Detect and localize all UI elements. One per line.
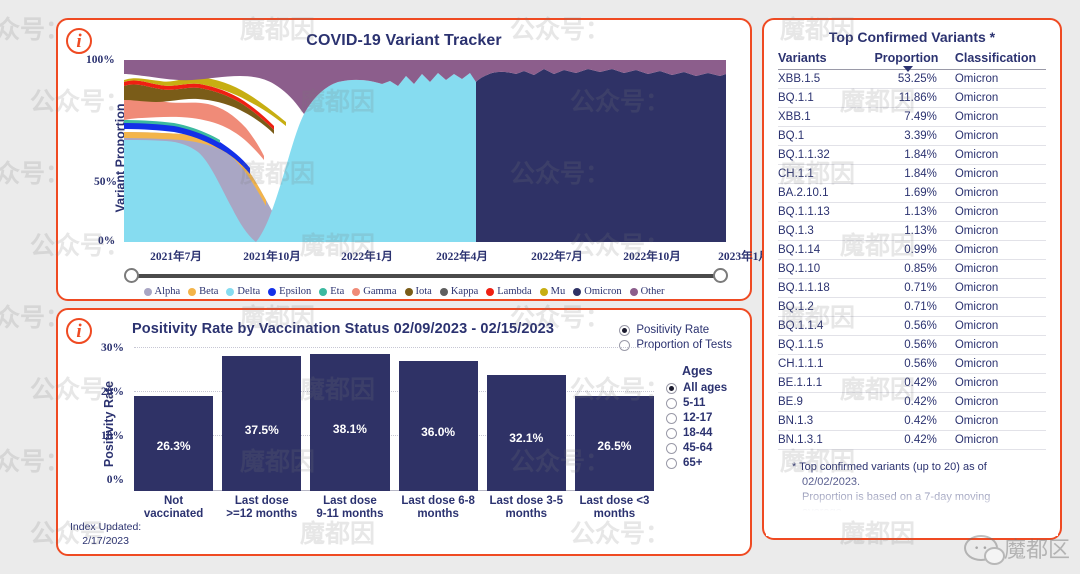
cell-proportion: 0.42% xyxy=(874,374,954,393)
bar-column: 36.0% xyxy=(399,347,478,491)
x-tick-0: 2021年7月 xyxy=(150,248,202,264)
cell-variant: BQ.1.2 xyxy=(778,298,874,317)
cell-variant: BQ.1.1 xyxy=(778,89,874,108)
variant-stacked-area-svg xyxy=(124,60,726,242)
slider-handle-start[interactable] xyxy=(124,268,139,283)
cell-classification: Omicron xyxy=(955,184,1046,203)
y-tick-100: 100% xyxy=(86,54,115,66)
cell-classification: Omicron xyxy=(955,222,1046,241)
legend-swatch-icon xyxy=(630,288,638,296)
legend-swatch-icon xyxy=(540,288,548,296)
table-row[interactable]: BE.1.1.10.42%Omicron xyxy=(778,374,1046,393)
variant-tracker-panel: i COVID-19 Variant Tracker Variant Propo… xyxy=(56,18,752,301)
index-updated-value: 2/17/2023 xyxy=(70,534,141,548)
wechat-watermark: •• 魔都区 xyxy=(964,532,1070,564)
cell-classification: Omicron xyxy=(955,260,1046,279)
cell-proportion: 1.69% xyxy=(874,184,954,203)
legend-item-beta[interactable]: Beta xyxy=(188,286,218,297)
legend-label: Eta xyxy=(330,286,344,297)
legend-label: Other xyxy=(641,286,665,297)
cell-classification: Omicron xyxy=(955,355,1046,374)
wechat-bubble-icon: •• xyxy=(964,535,998,561)
caret-down-icon xyxy=(903,66,913,72)
watermark-logo-text: 魔都区 xyxy=(1004,532,1070,564)
x-tick-2: 2022年1月 xyxy=(341,248,393,264)
bar-column: 26.3% xyxy=(134,347,213,491)
bar[interactable]: 32.1% xyxy=(487,375,566,491)
cell-variant: BN.1.3 xyxy=(778,412,874,431)
radio-icon[interactable] xyxy=(619,325,630,336)
positivity-bar-chart: Positivity Rate 30% 20% 10% 0% 26.3%37.5… xyxy=(58,337,750,537)
metric-option-positivity-rate[interactable]: Positivity Rate xyxy=(619,324,732,336)
legend-swatch-icon xyxy=(226,288,234,296)
table-row[interactable]: BN.1.3.10.42%Omicron xyxy=(778,431,1046,450)
cell-variant: BE.1.1.1 xyxy=(778,374,874,393)
variant-area-chart: Variant Proportion 100% 50% 0% xyxy=(58,50,750,265)
legend-label: Omicron xyxy=(584,286,621,297)
x-tick-4: 2022年7月 xyxy=(531,248,583,264)
cell-variant: BQ.1.1.5 xyxy=(778,336,874,355)
top-variants-panel: Top Confirmed Variants * Variants Propor… xyxy=(762,18,1062,540)
table-row[interactable]: BA.2.10.11.69%Omicron xyxy=(778,184,1046,203)
legend-item-mu[interactable]: Mu xyxy=(540,286,566,297)
cell-variant: BQ.1.1.32 xyxy=(778,146,874,165)
cell-classification: Omicron xyxy=(955,203,1046,222)
legend-swatch-icon xyxy=(319,288,327,296)
legend-label: Kappa xyxy=(451,286,478,297)
legend-item-alpha[interactable]: Alpha xyxy=(144,286,181,297)
index-updated-label: Index Updated: xyxy=(70,520,141,534)
table-title: Top Confirmed Variants * xyxy=(764,20,1060,51)
bar-y-tick-0: 0% xyxy=(88,474,124,486)
footnote-line-2: 02/02/2023. xyxy=(792,475,1032,490)
bar-column: 38.1% xyxy=(310,347,389,491)
cell-classification: Omicron xyxy=(955,165,1046,184)
cell-classification: Omicron xyxy=(955,317,1046,336)
table-row[interactable]: BQ.1.31.13%Omicron xyxy=(778,222,1046,241)
y-tick-50: 50% xyxy=(94,176,117,188)
legend-label: Gamma xyxy=(363,286,396,297)
cell-proportion: 1.13% xyxy=(874,203,954,222)
cell-classification: Omicron xyxy=(955,241,1046,260)
bar[interactable]: 26.3% xyxy=(134,396,213,491)
info-icon[interactable]: i xyxy=(66,28,92,54)
x-tick-1: 2021年10月 xyxy=(243,248,301,264)
y-tick-0: 0% xyxy=(98,235,115,247)
table-row[interactable]: XBB.17.49%Omicron xyxy=(778,108,1046,127)
bar-value-label: 37.5% xyxy=(222,423,301,437)
column-header-classification[interactable]: Classification xyxy=(955,51,1046,70)
bar-value-label: 26.3% xyxy=(134,439,213,453)
cell-proportion: 0.42% xyxy=(874,393,954,412)
legend-item-delta[interactable]: Delta xyxy=(226,286,260,297)
bar[interactable]: 37.5% xyxy=(222,356,301,491)
cell-proportion: 0.56% xyxy=(874,355,954,374)
table-row[interactable]: XBB.1.553.25%Omicron xyxy=(778,70,1046,89)
bar-plot-area: 26.3%37.5%38.1%36.0%32.1%26.5% xyxy=(134,347,654,491)
table-footnote: * Top confirmed variants (up to 20) as o… xyxy=(778,450,1046,520)
x-tick-3: 2022年4月 xyxy=(436,248,488,264)
cell-proportion: 0.71% xyxy=(874,279,954,298)
table-row[interactable]: BQ.13.39%Omicron xyxy=(778,127,1046,146)
cell-classification: Omicron xyxy=(955,374,1046,393)
cell-classification: Omicron xyxy=(955,70,1046,89)
legend-swatch-icon xyxy=(486,288,494,296)
cell-proportion: 1.13% xyxy=(874,222,954,241)
cell-variant: BQ.1.14 xyxy=(778,241,874,260)
cell-classification: Omicron xyxy=(955,431,1046,450)
radio-label: Positivity Rate xyxy=(636,324,709,336)
table-row[interactable]: BN.1.30.42%Omicron xyxy=(778,412,1046,431)
bar-category-label: Last dose9-11 months xyxy=(310,495,389,521)
legend-item-kappa[interactable]: Kappa xyxy=(440,286,478,297)
legend-item-gamma[interactable]: Gamma xyxy=(352,286,396,297)
legend-swatch-icon xyxy=(405,288,413,296)
cell-classification: Omicron xyxy=(955,412,1046,431)
table-row[interactable]: BQ.1.1.131.13%Omicron xyxy=(778,203,1046,222)
footnote-line-1: * Top confirmed variants (up to 20) as o… xyxy=(792,461,987,473)
legend-swatch-icon xyxy=(440,288,448,296)
bar-value-label: 38.1% xyxy=(310,422,389,436)
table-row[interactable]: CH.1.1.10.56%Omicron xyxy=(778,355,1046,374)
cell-variant: BQ.1.10 xyxy=(778,260,874,279)
bar-y-tick-20: 20% xyxy=(88,386,124,398)
cell-variant: XBB.1.5 xyxy=(778,70,874,89)
cell-variant: BA.2.10.1 xyxy=(778,184,874,203)
legend-swatch-icon xyxy=(573,288,581,296)
legend-label: Beta xyxy=(199,286,218,297)
cell-proportion: 7.49% xyxy=(874,108,954,127)
variant-chart-title: COVID-19 Variant Tracker xyxy=(58,20,750,50)
variant-plot-area xyxy=(124,60,726,242)
cell-classification: Omicron xyxy=(955,146,1046,165)
cell-proportion: 0.56% xyxy=(874,336,954,355)
variant-legend: AlphaBetaDeltaEpsilonEtaGammaIotaKappaLa… xyxy=(58,286,750,297)
info-icon[interactable]: i xyxy=(66,318,92,344)
bar-category-label: Last dose <3months xyxy=(575,495,654,521)
table-row[interactable]: BE.90.42%Omicron xyxy=(778,393,1046,412)
cell-variant: CH.1.1 xyxy=(778,165,874,184)
bar-y-tick-30: 30% xyxy=(88,342,124,354)
bar-category-labels: NotvaccinatedLast dose>=12 monthsLast do… xyxy=(134,495,654,521)
cell-proportion: 0.56% xyxy=(874,317,954,336)
cell-variant: BQ.1.3 xyxy=(778,222,874,241)
bar-value-label: 26.5% xyxy=(575,439,654,453)
legend-item-epsilon[interactable]: Epsilon xyxy=(268,286,311,297)
table-row[interactable]: BQ.1.20.71%Omicron xyxy=(778,298,1046,317)
cell-classification: Omicron xyxy=(955,279,1046,298)
table-header-row: Variants Proportion Classification xyxy=(778,51,1046,70)
cell-classification: Omicron xyxy=(955,393,1046,412)
cell-proportion: 1.84% xyxy=(874,146,954,165)
bar-category-label: Last dose>=12 months xyxy=(222,495,301,521)
cell-variant: BQ.1.1.13 xyxy=(778,203,874,222)
table-row[interactable]: BQ.1.1.40.56%Omicron xyxy=(778,317,1046,336)
column-header-variants[interactable]: Variants xyxy=(778,51,874,70)
top-variants-table: Variants Proportion Classification XBB.1… xyxy=(778,51,1046,450)
cell-variant: BQ.1.1.18 xyxy=(778,279,874,298)
bar[interactable]: 36.0% xyxy=(399,361,478,491)
bar-column: 32.1% xyxy=(487,347,566,491)
table-row[interactable]: BQ.1.1.321.84%Omicron xyxy=(778,146,1046,165)
cell-classification: Omicron xyxy=(955,108,1046,127)
table-row[interactable]: BQ.1.111.86%Omicron xyxy=(778,89,1046,108)
bar-column: 37.5% xyxy=(222,347,301,491)
legend-item-eta[interactable]: Eta xyxy=(319,286,344,297)
cell-classification: Omicron xyxy=(955,127,1046,146)
variant-x-axis: 2021年7月 2021年10月 2022年1月 2022年4月 2022年7月… xyxy=(124,248,728,264)
legend-label: Alpha xyxy=(155,286,181,297)
cell-variant: BN.1.3.1 xyxy=(778,431,874,450)
cell-classification: Omicron xyxy=(955,89,1046,108)
legend-label: Epsilon xyxy=(279,286,311,297)
cell-proportion: 0.71% xyxy=(874,298,954,317)
bar[interactable]: 26.5% xyxy=(575,396,654,491)
legend-label: Mu xyxy=(551,286,566,297)
cell-proportion: 0.42% xyxy=(874,412,954,431)
cell-proportion: 1.84% xyxy=(874,165,954,184)
table-row[interactable]: BQ.1.140.99%Omicron xyxy=(778,241,1046,260)
legend-label: Iota xyxy=(416,286,432,297)
positivity-rate-panel: i Positivity Rate by Vaccination Status … xyxy=(56,308,752,556)
bar-category-label: Notvaccinated xyxy=(134,495,213,521)
bar-category-label: Last dose 6-8months xyxy=(399,495,478,521)
slider-track[interactable] xyxy=(132,274,720,278)
cell-variant: BQ.1 xyxy=(778,127,874,146)
legend-swatch-icon xyxy=(352,288,360,296)
footnote-line-4: average. xyxy=(792,505,1032,520)
legend-swatch-icon xyxy=(268,288,276,296)
column-header-proportion[interactable]: Proportion xyxy=(874,51,954,70)
dashboard-page: i COVID-19 Variant Tracker Variant Propo… xyxy=(0,0,1080,574)
legend-label: Lambda xyxy=(497,286,531,297)
legend-item-iota[interactable]: Iota xyxy=(405,286,432,297)
bar-value-label: 32.1% xyxy=(487,431,566,445)
table-row[interactable]: CH.1.11.84%Omicron xyxy=(778,165,1046,184)
cell-proportion: 0.99% xyxy=(874,241,954,260)
cell-variant: XBB.1 xyxy=(778,108,874,127)
footnote-line-3: Proportion is based on a 7-day moving xyxy=(792,490,1032,505)
index-updated: Index Updated: 2/17/2023 xyxy=(70,520,141,548)
table-row[interactable]: BQ.1.1.180.71%Omicron xyxy=(778,279,1046,298)
bar[interactable]: 38.1% xyxy=(310,354,389,491)
x-tick-5: 2022年10月 xyxy=(623,248,681,264)
cell-variant: BE.9 xyxy=(778,393,874,412)
cell-proportion: 0.42% xyxy=(874,431,954,450)
cell-variant: CH.1.1.1 xyxy=(778,355,874,374)
slider-handle-end[interactable] xyxy=(713,268,728,283)
cell-variant: BQ.1.1.4 xyxy=(778,317,874,336)
date-range-slider[interactable] xyxy=(124,268,728,284)
cell-classification: Omicron xyxy=(955,336,1046,355)
cell-proportion: 53.25% xyxy=(874,70,954,89)
legend-label: Delta xyxy=(237,286,260,297)
cell-classification: Omicron xyxy=(955,298,1046,317)
legend-swatch-icon xyxy=(144,288,152,296)
cell-proportion: 0.85% xyxy=(874,260,954,279)
cell-proportion: 11.86% xyxy=(874,89,954,108)
area-omicron xyxy=(476,69,726,242)
table-row[interactable]: BQ.1.100.85%Omicron xyxy=(778,260,1046,279)
legend-item-omicron[interactable]: Omicron xyxy=(573,286,621,297)
bar-column: 26.5% xyxy=(575,347,654,491)
bar-value-label: 36.0% xyxy=(399,425,478,439)
bar-y-tick-10: 10% xyxy=(88,430,124,442)
table-row[interactable]: BQ.1.1.50.56%Omicron xyxy=(778,336,1046,355)
legend-item-lambda[interactable]: Lambda xyxy=(486,286,531,297)
legend-item-other[interactable]: Other xyxy=(630,286,665,297)
legend-swatch-icon xyxy=(188,288,196,296)
bar-category-label: Last dose 3-5months xyxy=(487,495,566,521)
cell-proportion: 3.39% xyxy=(874,127,954,146)
